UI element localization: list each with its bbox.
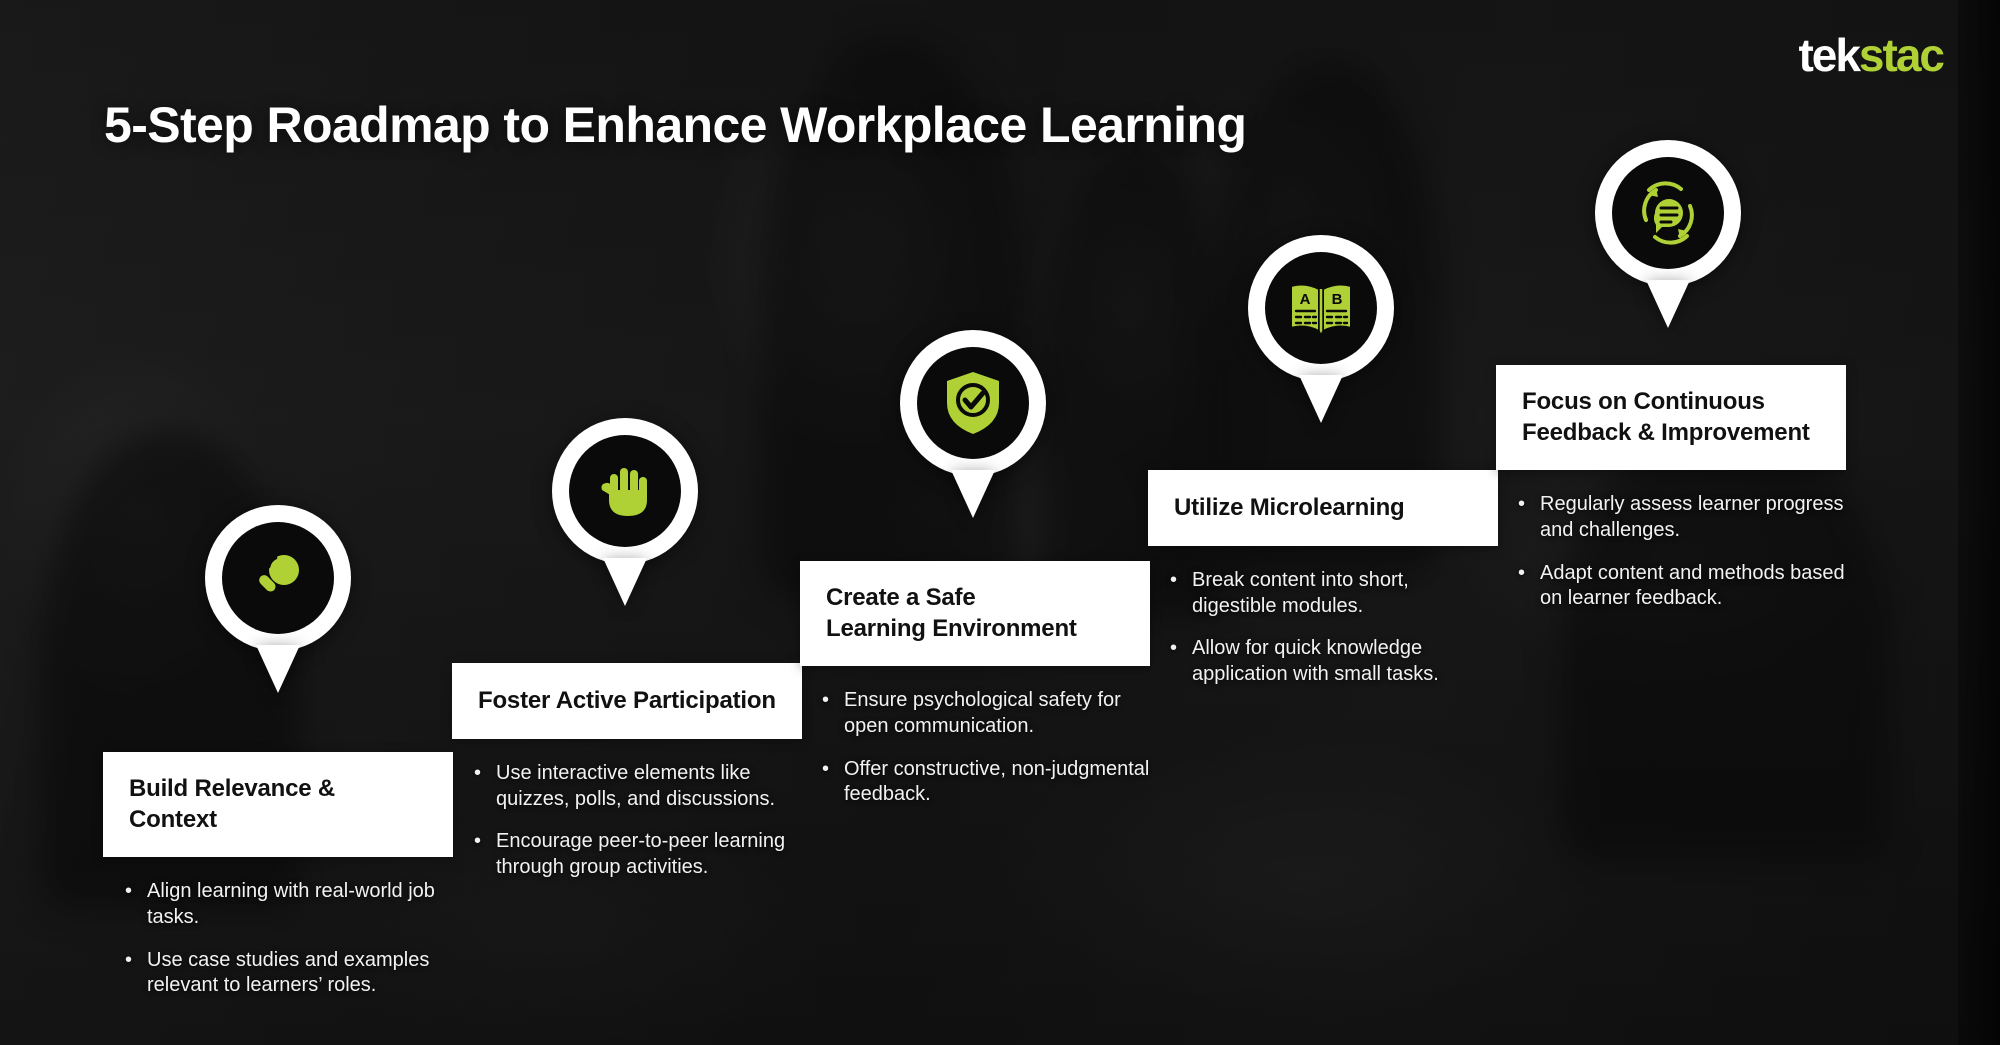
open-book-icon: A B: [1265, 252, 1377, 364]
step-card-2[interactable]: Foster Active Participation: [452, 663, 802, 739]
step-block-4: Utilize Microlearning • Break content in…: [1148, 470, 1498, 687]
pin-ring-4: A B: [1248, 235, 1394, 381]
raised-hand-icon: [569, 435, 681, 547]
step-block-1: Build Relevance & Context • Align learni…: [103, 752, 453, 999]
background-right-edge-strip: [1958, 0, 2000, 1045]
brand-logo[interactable]: tekstac: [1798, 32, 1943, 78]
feedback-loop-icon: [1612, 157, 1724, 269]
pin-tail-2: [603, 558, 647, 606]
step-card-1[interactable]: Build Relevance & Context: [103, 752, 453, 857]
step-card-5[interactable]: Focus on Continuous Feedback & Improveme…: [1496, 365, 1846, 470]
logo-primary-text: tek: [1798, 29, 1858, 81]
list-item: • Use interactive elements like quizzes,…: [474, 761, 802, 812]
list-item: • Regularly assess learner progress and …: [1518, 492, 1846, 543]
step-block-3: Create a Safe Learning Environment • Ens…: [800, 561, 1150, 808]
page-title: 5-Step Roadmap to Enhance Workplace Lear…: [104, 96, 1246, 154]
bullet-marker: •: [1518, 492, 1540, 518]
step-bullets-1: • Align learning with real-world job tas…: [103, 879, 453, 998]
list-item: • Encourage peer-to-peer learning throug…: [474, 829, 802, 880]
pin-tail-5: [1646, 280, 1690, 328]
pin-ring-3: [900, 330, 1046, 476]
pin-ring-2: [552, 418, 698, 564]
bullet-marker: •: [1170, 568, 1192, 594]
bullet-marker: •: [125, 948, 147, 974]
list-item: • Ensure psychological safety for open c…: [822, 688, 1150, 739]
list-item: • Offer constructive, non-judgmental fee…: [822, 757, 1150, 808]
bullet-text: Encourage peer-to-peer learning through …: [496, 829, 802, 880]
bullet-text: Break content into short, digestible mod…: [1192, 568, 1498, 619]
step-block-2: Foster Active Participation • Use intera…: [452, 663, 802, 880]
pin-ring-1: [205, 505, 351, 651]
bullet-text: Regularly assess learner progress and ch…: [1540, 492, 1846, 543]
bullet-text: Offer constructive, non-judgmental feedb…: [844, 757, 1150, 808]
slide-canvas: 5-Step Roadmap to Enhance Workplace Lear…: [0, 0, 2000, 1045]
bullet-marker: •: [822, 757, 844, 783]
step-title-3: Create a Safe Learning Environment: [826, 583, 1077, 644]
pin-tail-3: [951, 470, 995, 518]
step-title-4: Utilize Microlearning: [1174, 493, 1405, 524]
bullet-marker: •: [1170, 636, 1192, 662]
step-bullets-2: • Use interactive elements like quizzes,…: [452, 761, 802, 880]
list-item: • Adapt content and methods based on lea…: [1518, 561, 1846, 612]
bullet-marker: •: [474, 829, 496, 855]
magnifier-icon: [222, 522, 334, 634]
step-pin-1[interactable]: [205, 505, 351, 693]
list-item: • Use case studies and examples relevant…: [125, 948, 453, 999]
bullet-text: Align learning with real-world job tasks…: [147, 879, 453, 930]
step-pin-4[interactable]: A B: [1248, 235, 1394, 423]
step-title-5: Focus on Continuous Feedback & Improveme…: [1522, 387, 1810, 448]
bullet-text: Use interactive elements like quizzes, p…: [496, 761, 802, 812]
svg-text:B: B: [1332, 291, 1343, 308]
step-pin-5[interactable]: [1595, 140, 1741, 328]
pin-tail-1: [256, 645, 300, 693]
step-bullets-5: • Regularly assess learner progress and …: [1496, 492, 1846, 611]
bullet-text: Use case studies and examples relevant t…: [147, 948, 453, 999]
step-bullets-3: • Ensure psychological safety for open c…: [800, 688, 1150, 807]
bullet-marker: •: [125, 879, 147, 905]
logo-accent-text: stac: [1859, 29, 1943, 81]
step-card-4[interactable]: Utilize Microlearning: [1148, 470, 1498, 546]
bullet-text: Allow for quick knowledge application wi…: [1192, 636, 1498, 687]
bullet-marker: •: [1518, 561, 1540, 587]
bullet-text: Ensure psychological safety for open com…: [844, 688, 1150, 739]
list-item: • Break content into short, digestible m…: [1170, 568, 1498, 619]
step-pin-3[interactable]: [900, 330, 1046, 518]
step-pin-2[interactable]: [552, 418, 698, 606]
step-title-1: Build Relevance & Context: [129, 774, 427, 835]
list-item: • Allow for quick knowledge application …: [1170, 636, 1498, 687]
step-card-3[interactable]: Create a Safe Learning Environment: [800, 561, 1150, 666]
shield-check-icon: [917, 347, 1029, 459]
step-block-5: Focus on Continuous Feedback & Improveme…: [1496, 365, 1846, 612]
bullet-marker: •: [474, 761, 496, 787]
list-item: • Align learning with real-world job tas…: [125, 879, 453, 930]
step-bullets-4: • Break content into short, digestible m…: [1148, 568, 1498, 687]
pin-tail-4: [1299, 375, 1343, 423]
bullet-marker: •: [822, 688, 844, 714]
pin-ring-5: [1595, 140, 1741, 286]
svg-text:A: A: [1300, 291, 1311, 308]
step-title-2: Foster Active Participation: [478, 686, 776, 717]
bullet-text: Adapt content and methods based on learn…: [1540, 561, 1846, 612]
